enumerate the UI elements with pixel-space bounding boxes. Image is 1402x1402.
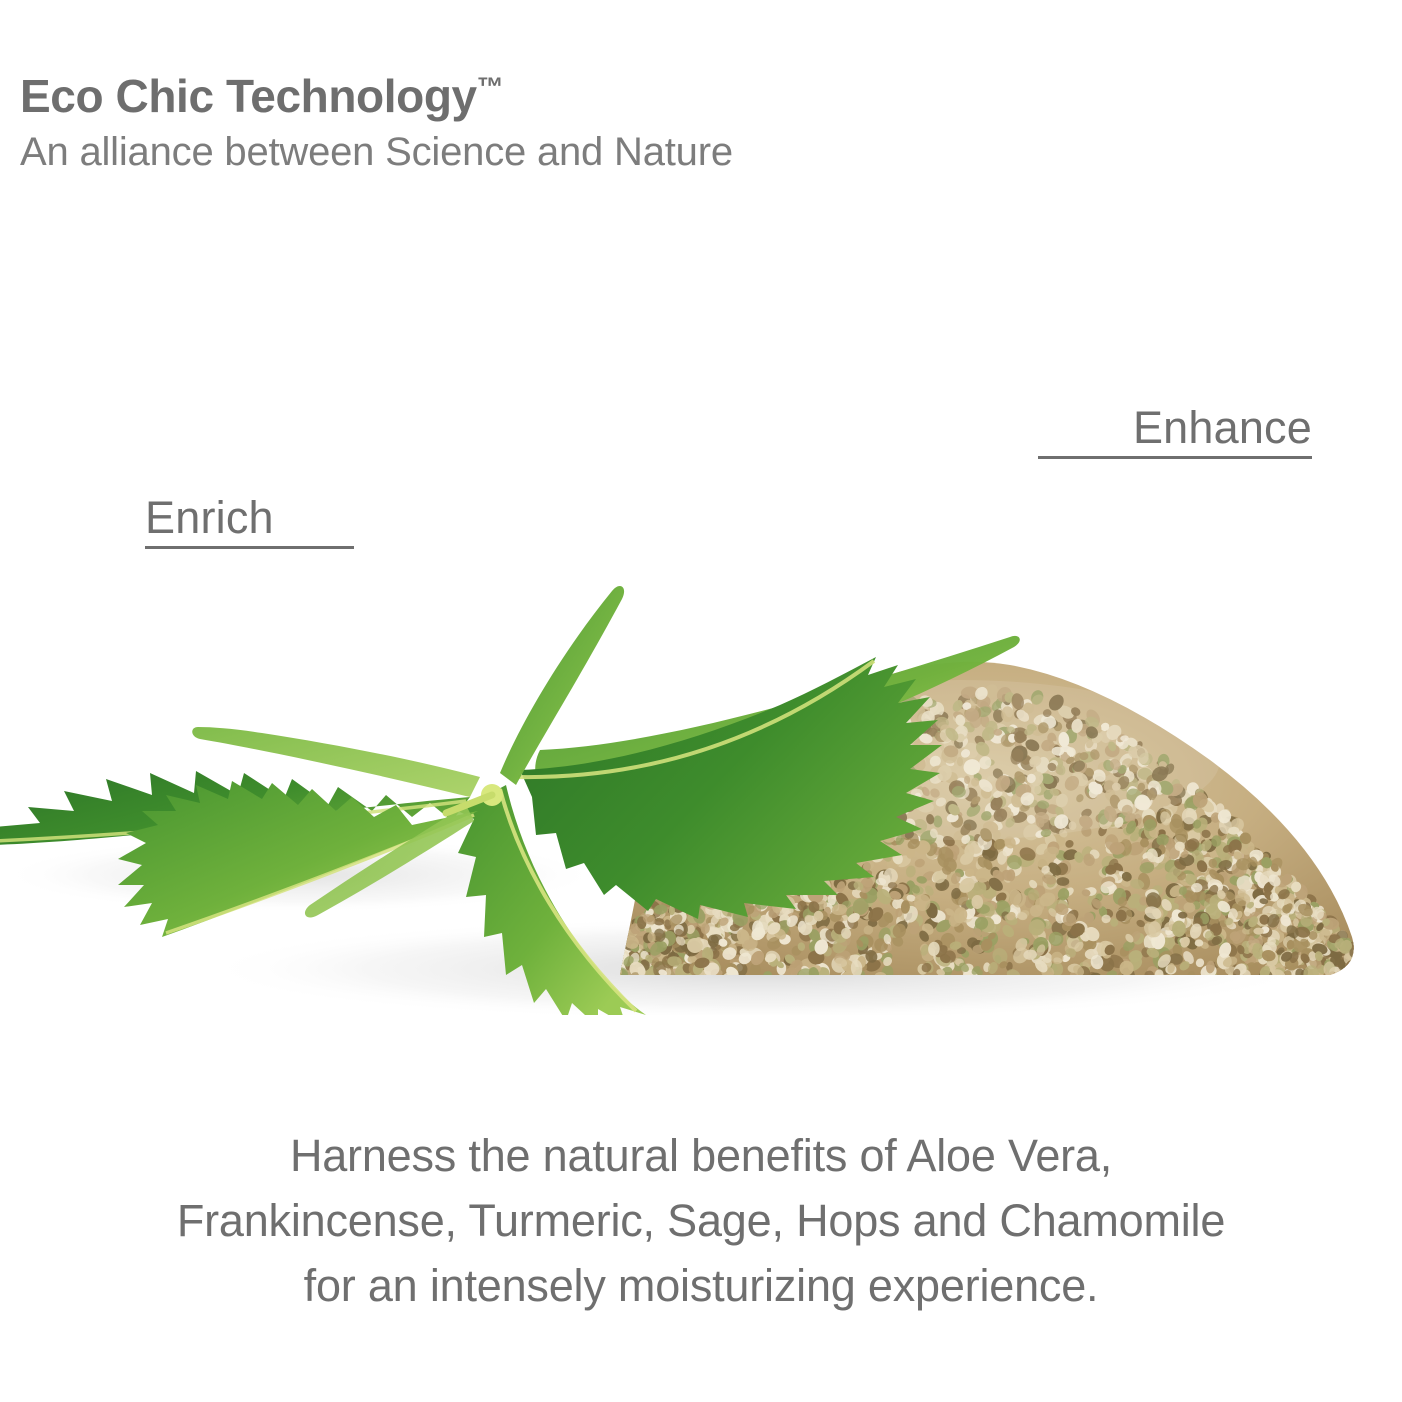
hemp-product-photo xyxy=(0,545,1402,1015)
seed xyxy=(1362,967,1373,976)
seed xyxy=(1357,969,1368,979)
seed xyxy=(1349,959,1361,972)
seed xyxy=(1356,966,1371,979)
seed xyxy=(1353,964,1369,979)
seed xyxy=(1346,965,1360,979)
seed xyxy=(1351,951,1368,964)
seed xyxy=(1338,971,1347,980)
seed xyxy=(1350,957,1366,973)
page-subtitle: An alliance between Science and Nature xyxy=(20,131,1320,173)
seed xyxy=(1349,956,1371,977)
caption-line-2: Frankincense, Turmeric, Sage, Hops and C… xyxy=(0,1189,1402,1254)
seed xyxy=(1253,928,1263,935)
seed xyxy=(1358,964,1374,979)
seed xyxy=(1360,968,1374,982)
hemp-photo-svg xyxy=(0,545,1402,1015)
seed xyxy=(1350,958,1369,976)
seed xyxy=(1353,952,1367,968)
seed xyxy=(1354,955,1366,968)
seed xyxy=(1352,960,1364,973)
caption-block: Harness the natural benefits of Aloe Ver… xyxy=(0,1124,1402,1318)
seed xyxy=(1361,963,1377,978)
seed xyxy=(1353,963,1361,973)
header-block: Eco Chic Technology™ An alliance between… xyxy=(20,72,1320,173)
callout-enrich-label: Enrich xyxy=(145,495,354,540)
seed xyxy=(1363,971,1372,982)
seed xyxy=(1354,960,1366,969)
seed xyxy=(1195,939,1204,946)
seed xyxy=(1354,971,1369,982)
caption-line-3: for an intensely moisturizing experience… xyxy=(0,1254,1402,1319)
seed xyxy=(1359,962,1374,978)
seed xyxy=(1353,968,1365,982)
seed xyxy=(1352,961,1374,983)
callout-enhance-underline xyxy=(1038,456,1312,459)
seed xyxy=(1347,963,1356,974)
seed xyxy=(1353,956,1364,969)
seed xyxy=(1347,968,1357,977)
seed xyxy=(1363,971,1375,983)
seed xyxy=(1355,965,1377,987)
trademark-symbol: ™ xyxy=(477,72,504,102)
seed xyxy=(1352,963,1368,980)
seed xyxy=(1362,962,1371,972)
seed xyxy=(1354,967,1369,981)
callout-enhance-label: Enhance xyxy=(1038,405,1312,450)
seed xyxy=(1356,965,1375,983)
seed xyxy=(1349,960,1368,981)
seed xyxy=(1355,959,1365,970)
seed xyxy=(1057,877,1070,886)
seed xyxy=(1351,969,1360,980)
seed xyxy=(814,911,824,922)
seed xyxy=(1356,965,1371,980)
seed xyxy=(1349,969,1362,979)
seed xyxy=(1360,961,1374,974)
seed xyxy=(1362,960,1376,973)
seed xyxy=(1352,948,1371,967)
seed xyxy=(1354,961,1368,971)
promo-panel: Eco Chic Technology™ An alliance between… xyxy=(0,0,1402,1402)
page-title: Eco Chic Technology™ xyxy=(20,72,1320,120)
page-title-text: Eco Chic Technology xyxy=(20,70,477,122)
seed xyxy=(1357,958,1369,969)
seed xyxy=(1361,957,1373,971)
seed xyxy=(1351,966,1366,982)
callout-enrich: Enrich xyxy=(145,495,354,549)
seed xyxy=(1352,959,1369,977)
seed xyxy=(1357,953,1366,963)
seed xyxy=(1357,953,1377,974)
caption-line-1: Harness the natural benefits of Aloe Ver… xyxy=(0,1124,1402,1189)
seed xyxy=(1356,959,1374,976)
seed xyxy=(1354,964,1369,979)
callout-enhance: Enhance xyxy=(1038,405,1312,459)
seed xyxy=(1343,969,1352,977)
seed xyxy=(1360,968,1378,984)
